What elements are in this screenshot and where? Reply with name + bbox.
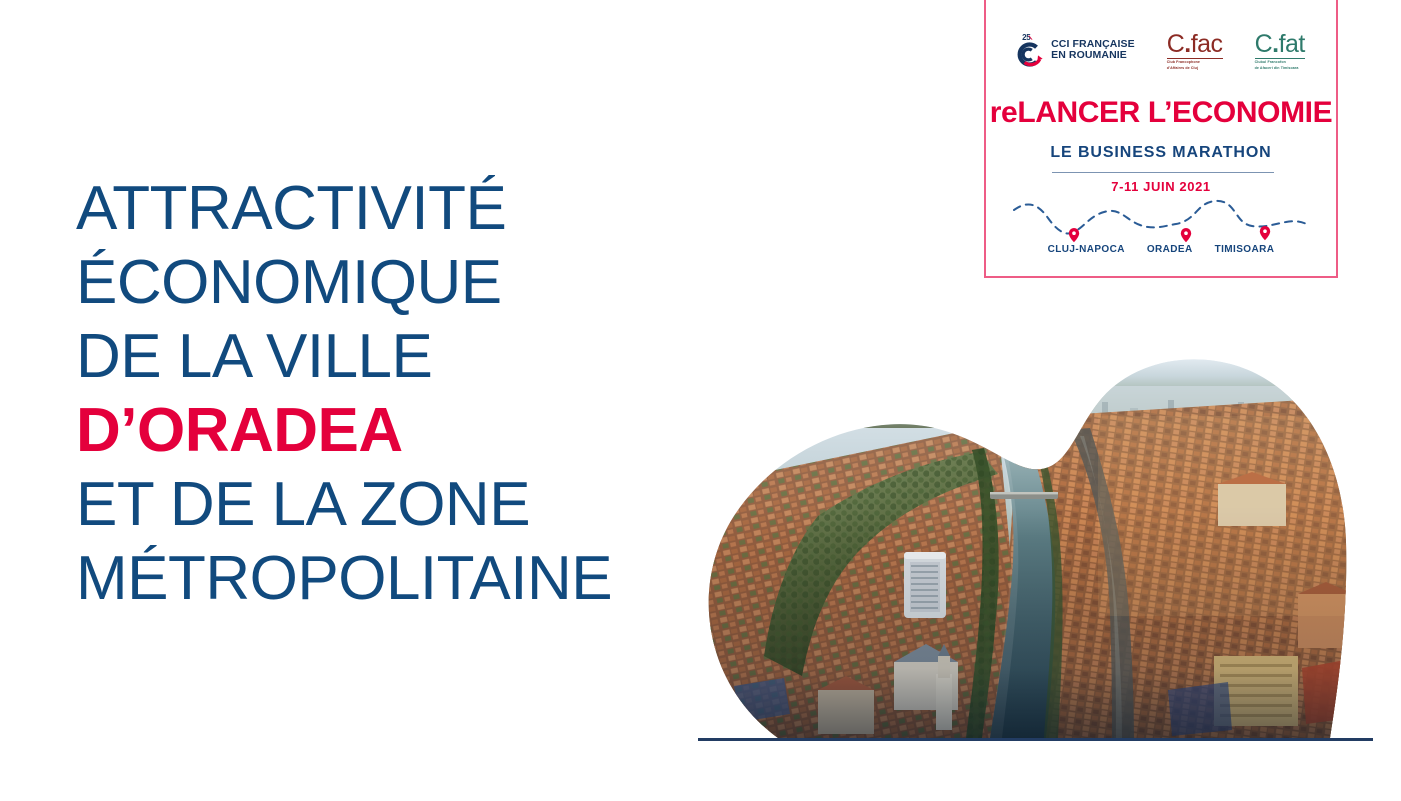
- logo-c-fat: C.fat Clubul Francofon de Afaceri din Ti…: [1255, 30, 1305, 70]
- logo-cci-francaise-en-roumanie: 25\ CCI FRANÇAISE EN ROUMANIE: [1017, 33, 1135, 67]
- photo-blob-svg: [698, 356, 1366, 738]
- headline-line-4-oradea: D’ORADEA: [76, 394, 696, 468]
- city-label-cluj-napoca: CLUJ-NAPOCA: [1048, 244, 1125, 255]
- cci-anniversary-label: 25\: [1022, 33, 1032, 42]
- photo-baseline-rule: [698, 738, 1373, 741]
- map-pin-oradea: [1181, 228, 1191, 242]
- slide-canvas: ATTRACTIVITÉ ÉCONOMIQUE DE LA VILLE D’OR…: [0, 0, 1401, 801]
- cfac-subtitle-line-2: d’Affaires de Cluj: [1167, 66, 1223, 71]
- event-divider: [1052, 172, 1274, 173]
- event-title: reLANCER L’ECONOMIE: [986, 96, 1336, 130]
- sponsor-logo-row: 25\ CCI FRANÇAISE EN ROUMANIE C.fac: [986, 22, 1336, 78]
- city-aerial-photo: [698, 356, 1366, 738]
- map-pin-timisoara: [1260, 226, 1270, 240]
- city-label-oradea: ORADEA: [1147, 244, 1193, 255]
- headline-line-1: ATTRACTIVITÉ: [76, 172, 696, 246]
- page-title: ATTRACTIVITÉ ÉCONOMIQUE DE LA VILLE D’OR…: [76, 172, 696, 616]
- cfat-wordmark: C.fat: [1255, 32, 1305, 57]
- logo-c-fac: C.fac Club Francophone d’Affaires de Clu…: [1167, 30, 1223, 70]
- map-pin-cluj-napoca: [1069, 228, 1079, 242]
- event-date: 7-11 JUIN 2021: [986, 179, 1336, 194]
- event-branding-card: 25\ CCI FRANÇAISE EN ROUMANIE C.fac: [984, 0, 1338, 278]
- cci-logo-mark: 25\: [1017, 33, 1047, 67]
- cfat-subtitle-line-1: Clubul Francofon: [1255, 60, 1305, 65]
- cci-logo-line-2: EN ROUMANIE: [1051, 50, 1135, 62]
- route-map-graphic: [1008, 196, 1318, 244]
- event-subtitle: LE BUSINESS MARATHON: [986, 144, 1336, 162]
- headline-line-2: ÉCONOMIQUE: [76, 246, 696, 320]
- cci-swirl-icon: [1017, 42, 1043, 67]
- cfac-subtitle-line-1: Club Francophone: [1167, 60, 1223, 65]
- cfat-underline: [1255, 58, 1305, 59]
- city-label-row: CLUJ-NAPOCA ORADEA TIMISOARA: [986, 244, 1336, 255]
- cfat-subtitle-line-2: de Afaceri din Timisoara: [1255, 66, 1305, 71]
- city-label-timisoara: TIMISOARA: [1215, 244, 1275, 255]
- cfac-underline: [1167, 58, 1223, 59]
- cci-logo-wordmark: CCI FRANÇAISE EN ROUMANIE: [1051, 39, 1135, 62]
- headline-line-5: ET DE LA ZONE: [76, 468, 696, 542]
- headline-line-6: MÉTROPOLITAINE: [76, 542, 696, 616]
- cfac-wordmark: C.fac: [1167, 32, 1223, 57]
- headline-line-3: DE LA VILLE: [76, 320, 696, 394]
